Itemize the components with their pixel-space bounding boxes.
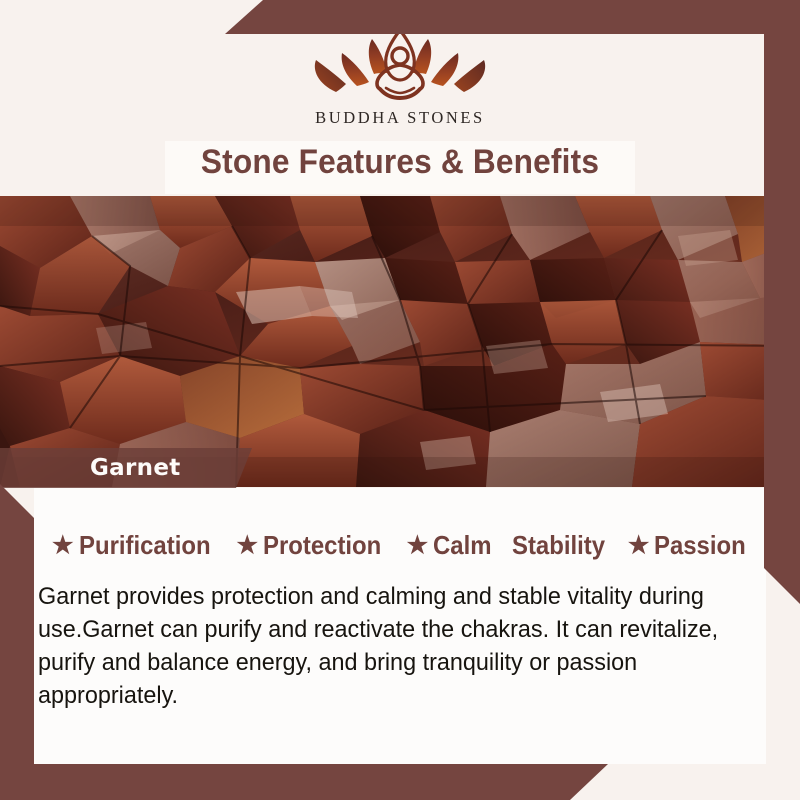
benefit-label: Calm	[433, 530, 491, 561]
frame-band-bottom	[0, 764, 608, 800]
benefit-label: Protection	[263, 530, 381, 561]
benefit-item-purification: ★ Purification	[52, 530, 222, 561]
star-icon: ★	[407, 534, 429, 558]
frame-band-right	[764, 0, 800, 604]
benefit-label: Stability	[512, 530, 605, 561]
benefit-item-passion: ★ Passion	[628, 530, 754, 561]
stone-name-banner: Garnet	[0, 448, 252, 488]
brand-name: BUDDHA STONES	[315, 108, 485, 128]
benefit-item-calm: ★ Calm	[407, 530, 497, 561]
lotus-meditation-icon	[300, 26, 500, 104]
benefit-item-protection: ★ Protection	[237, 530, 392, 561]
page-title: Stone Features & Benefits	[28, 143, 772, 182]
stone-description: Garnet provides protection and calming a…	[38, 580, 722, 712]
frame-band-left	[0, 484, 34, 800]
frame-band-top	[225, 0, 800, 34]
star-icon: ★	[52, 534, 74, 558]
benefit-label: Purification	[79, 530, 211, 561]
benefit-label: Passion	[654, 530, 746, 561]
stone-info-card: BUDDHA STONES Stone Features & Benefits	[0, 0, 800, 800]
stone-name-label: Garnet	[90, 455, 181, 481]
star-icon: ★	[628, 534, 650, 558]
benefits-list: ★ Purification ★ Protection ★ Calm Stabi…	[52, 530, 762, 561]
star-icon: ★	[237, 534, 259, 558]
garnet-crystal-cluster-photo	[0, 196, 800, 487]
benefit-item-stability: Stability	[512, 530, 613, 561]
